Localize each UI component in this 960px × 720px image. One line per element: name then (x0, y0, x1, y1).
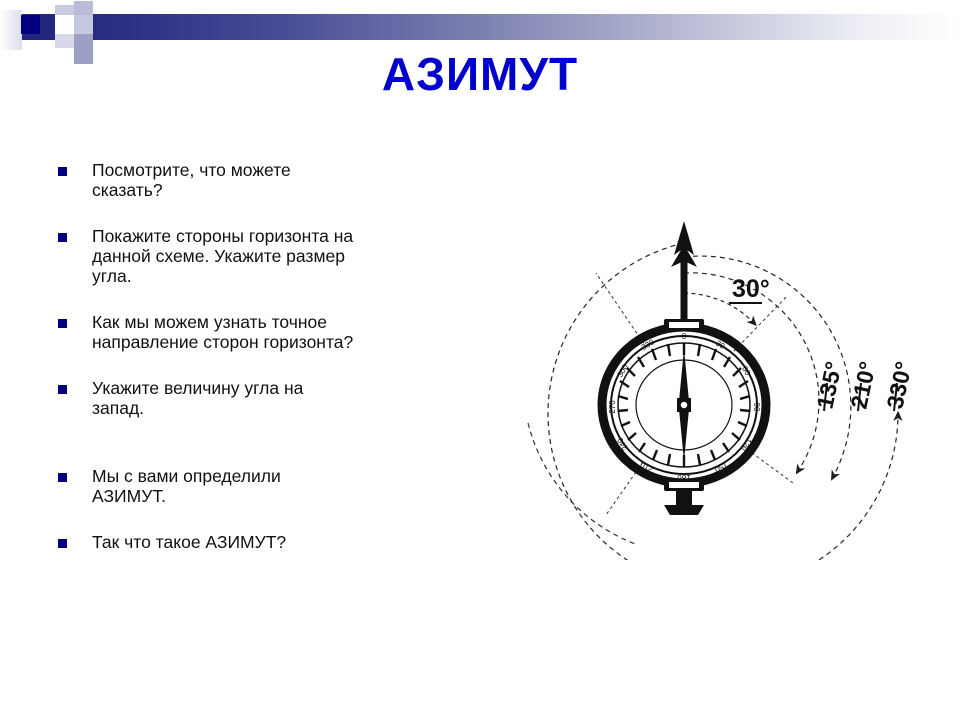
svg-text:270: 270 (608, 400, 617, 414)
azimuth-value-labels: 30° 135° 210° 330° (729, 275, 917, 411)
compass-azimuth-diagram: 0 30 60 90 120 150 180 210 240 270 300 3… (488, 215, 948, 560)
bullet-square-icon (58, 167, 67, 176)
page-title: АЗИМУТ (0, 47, 960, 101)
header-fade-block (0, 10, 22, 50)
list-item-label: Укажите величину угла на запад. (92, 378, 303, 418)
list-item: Укажите величину угла на запад. (58, 378, 478, 418)
header-square-navy (21, 15, 40, 34)
header-square-light-4 (55, 34, 74, 48)
list-item-label: Как мы можем узнать точное направление с… (92, 312, 353, 352)
header-square-medium-1 (74, 34, 93, 48)
list-item-label: Мы с вами определили АЗИМУТ. (92, 466, 281, 506)
label-330-deg: 330° (881, 359, 916, 411)
bullet-square-icon (58, 385, 67, 394)
list-item-label: Посмотрите, что можете сказать? (92, 160, 291, 200)
header-square-light-1 (55, 5, 74, 15)
header-gradient-bar (0, 14, 960, 40)
header-square-light-2 (74, 1, 93, 15)
svg-text:0: 0 (682, 332, 687, 341)
bullet-list: Посмотрите, что можете сказать? Покажите… (58, 160, 478, 578)
list-item: Покажите стороны горизонта на данной схе… (58, 226, 478, 286)
label-135-deg: 135° (811, 359, 846, 411)
list-item-label: Так что такое АЗИМУТ? (92, 532, 286, 552)
header-square-white-1 (55, 15, 74, 34)
label-210-deg: 210° (845, 359, 880, 411)
svg-text:90: 90 (752, 403, 761, 412)
list-item: Так что такое АЗИМУТ? (58, 532, 478, 552)
compass-illustration: 0 30 60 90 120 150 180 210 240 270 300 3… (488, 215, 948, 560)
bullet-square-icon (58, 319, 67, 328)
bullet-square-icon (58, 539, 67, 548)
bullet-square-icon (58, 233, 67, 242)
list-item: Как мы можем узнать точное направление с… (58, 312, 478, 352)
list-item: Посмотрите, что можете сказать? (58, 160, 478, 200)
list-item-label: Покажите стороны горизонта на данной схе… (92, 226, 353, 286)
north-direction-arrow (671, 221, 697, 320)
svg-text:180: 180 (677, 473, 691, 482)
list-item: Мы с вами определили АЗИМУТ. (58, 466, 478, 506)
header-square-light-3 (74, 15, 93, 34)
label-30-deg: 30° (732, 275, 770, 303)
bullet-square-icon (58, 473, 67, 482)
